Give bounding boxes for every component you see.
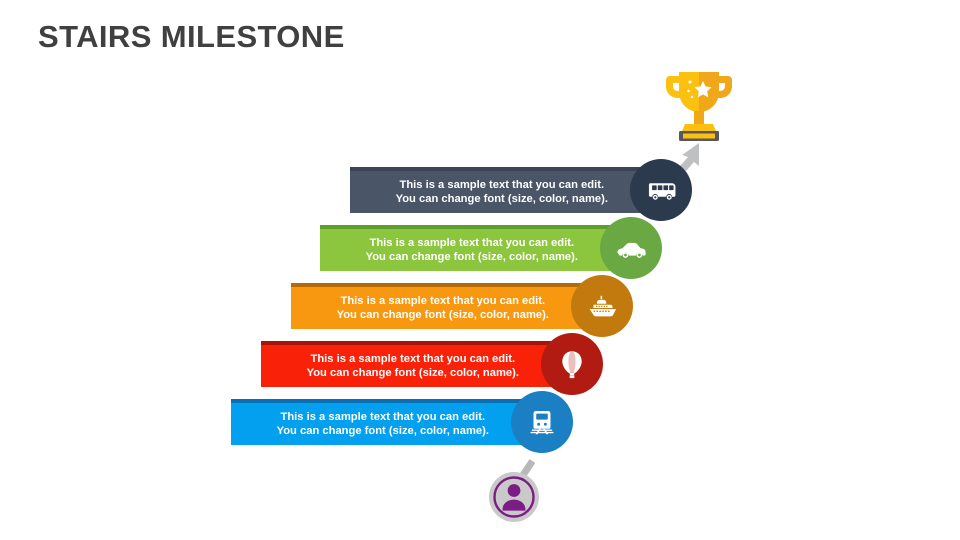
step-3-text: This is a sample text that you can edit.… — [337, 294, 601, 322]
trophy-icon — [655, 66, 743, 148]
slide-canvas: STAIRS MILESTONE This is a sample text t… — [0, 0, 960, 540]
step-2[interactable]: This is a sample text that you can edit.… — [261, 341, 571, 387]
step-5-node-bus[interactable] — [630, 159, 692, 221]
step-2-bar: This is a sample text that you can edit.… — [261, 345, 571, 387]
stairs-milestone-diagram: This is a sample text that you can edit.… — [0, 0, 960, 540]
step-4-text: This is a sample text that you can edit.… — [366, 236, 630, 264]
step-3-line1: This is a sample text that you can edit. — [337, 294, 549, 308]
cruise-ship-icon — [585, 289, 619, 323]
step-5-line1: This is a sample text that you can edit. — [396, 178, 608, 192]
step-4-node-car[interactable] — [600, 217, 662, 279]
step-5[interactable]: This is a sample text that you can edit.… — [350, 167, 660, 213]
step-4[interactable]: This is a sample text that you can edit.… — [320, 225, 630, 271]
step-1[interactable]: This is a sample text that you can edit.… — [231, 399, 541, 445]
step-1-line2: You can change font (size, color, name). — [277, 424, 489, 438]
user-avatar-icon[interactable] — [488, 471, 540, 523]
train-icon — [525, 405, 559, 439]
step-2-node-balloon[interactable] — [541, 333, 603, 395]
step-1-line1: This is a sample text that you can edit. — [277, 410, 489, 424]
step-4-line2: You can change font (size, color, name). — [366, 250, 578, 264]
car-icon — [614, 231, 648, 265]
bus-icon — [644, 173, 678, 207]
step-2-line1: This is a sample text that you can edit. — [307, 352, 519, 366]
step-3-line2: You can change font (size, color, name). — [337, 308, 549, 322]
step-1-bar: This is a sample text that you can edit.… — [231, 403, 541, 445]
step-1-node-train[interactable] — [511, 391, 573, 453]
step-1-text: This is a sample text that you can edit.… — [277, 410, 541, 438]
hot-air-balloon-icon — [555, 347, 589, 381]
step-3-bar: This is a sample text that you can edit.… — [291, 287, 601, 329]
step-4-line1: This is a sample text that you can edit. — [366, 236, 578, 250]
step-3[interactable]: This is a sample text that you can edit.… — [291, 283, 601, 329]
step-4-bar: This is a sample text that you can edit.… — [320, 229, 630, 271]
step-3-node-ship[interactable] — [571, 275, 633, 337]
step-2-text: This is a sample text that you can edit.… — [307, 352, 571, 380]
step-5-text: This is a sample text that you can edit.… — [396, 178, 660, 206]
step-5-line2: You can change font (size, color, name). — [396, 192, 608, 206]
step-5-bar: This is a sample text that you can edit.… — [350, 171, 660, 213]
step-2-line2: You can change font (size, color, name). — [307, 366, 519, 380]
